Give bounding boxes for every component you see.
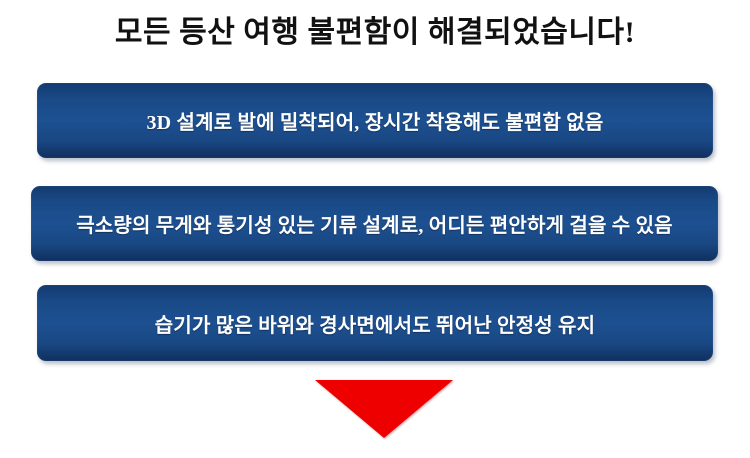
benefit-banner-3: 습기가 많은 바위와 경사면에서도 뛰어난 안정성 유지: [37, 285, 713, 361]
benefit-banner-1-label: 3D 설계로 발에 밀착되어, 장시간 착용해도 불편함 없음: [146, 106, 603, 135]
benefit-banner-3-label: 습기가 많은 바위와 경사면에서도 뛰어난 안정성 유지: [155, 309, 595, 338]
benefit-banner-2: 극소량의 무게와 통기성 있는 기류 설계로, 어디든 편안하게 걸을 수 있음: [31, 186, 718, 261]
page-title: 모든 등산 여행 불편함이 해결되었습니다!: [0, 14, 750, 52]
triangle-down-icon: [315, 380, 453, 438]
benefit-banner-2-label: 극소량의 무게와 통기성 있는 기류 설계로, 어디든 편안하게 걸을 수 있음: [76, 209, 673, 238]
promo-benefits-panel: 모든 등산 여행 불편함이 해결되었습니다! 3D 설계로 발에 밀착되어, 장…: [0, 0, 750, 458]
benefit-banner-1: 3D 설계로 발에 밀착되어, 장시간 착용해도 불편함 없음: [37, 83, 713, 158]
